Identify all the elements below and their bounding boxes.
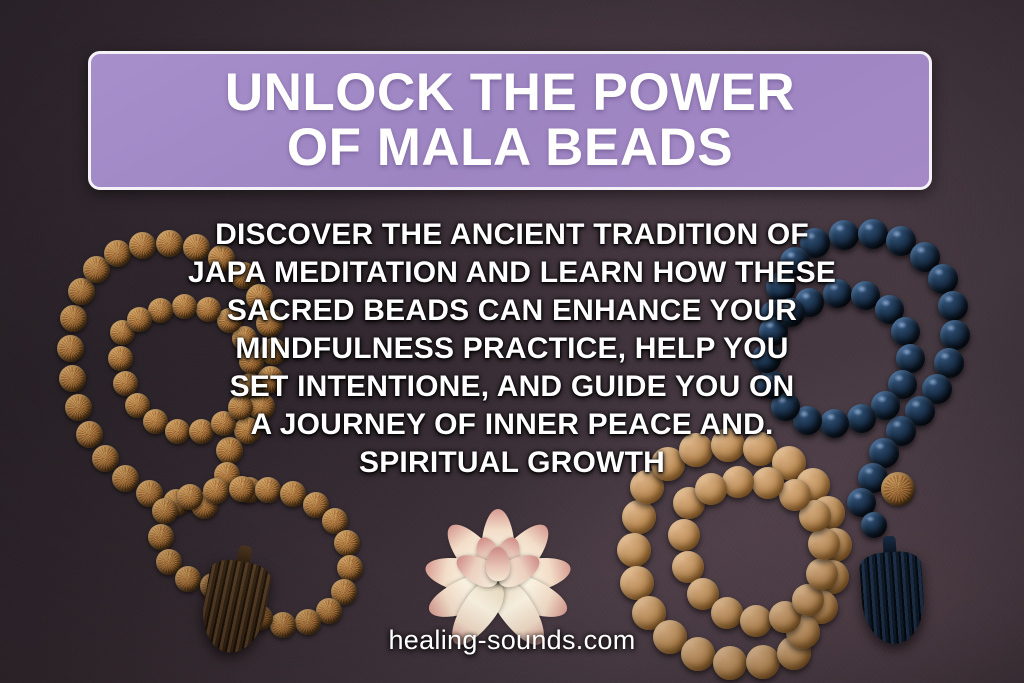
title-line-2: OF MALA BEADS xyxy=(287,121,733,175)
body-line-4: MINDFULNESS PRACTICE, HELP YOU xyxy=(0,330,1024,368)
body-line-7: SPIRITUAL GROWTH xyxy=(0,444,1024,482)
body-line-5: SET INTENTIONE, AND GUIDE YOU ON xyxy=(0,368,1024,406)
body-line-6: A JOURNEY OF INNER PEACE AND. xyxy=(0,406,1024,444)
body-line-1: DISCOVER THE ANCIENT TRADITION OF xyxy=(0,216,1024,254)
body-copy: DISCOVER THE ANCIENT TRADITION OF JAPA M… xyxy=(0,216,1024,482)
body-line-2: JAPA MEDITATION AND LEARN HOW THESE xyxy=(0,254,1024,292)
poster-canvas: UNLOCK THE POWER OF MALA BEADS DISCOVER … xyxy=(0,0,1024,683)
body-line-3: SACRED BEADS CAN ENHANCE YOUR xyxy=(0,292,1024,330)
title-line-1: UNLOCK THE POWER xyxy=(225,66,795,120)
title-banner: UNLOCK THE POWER OF MALA BEADS xyxy=(88,51,932,190)
footer-website-url: healing-sounds.com xyxy=(0,625,1024,656)
